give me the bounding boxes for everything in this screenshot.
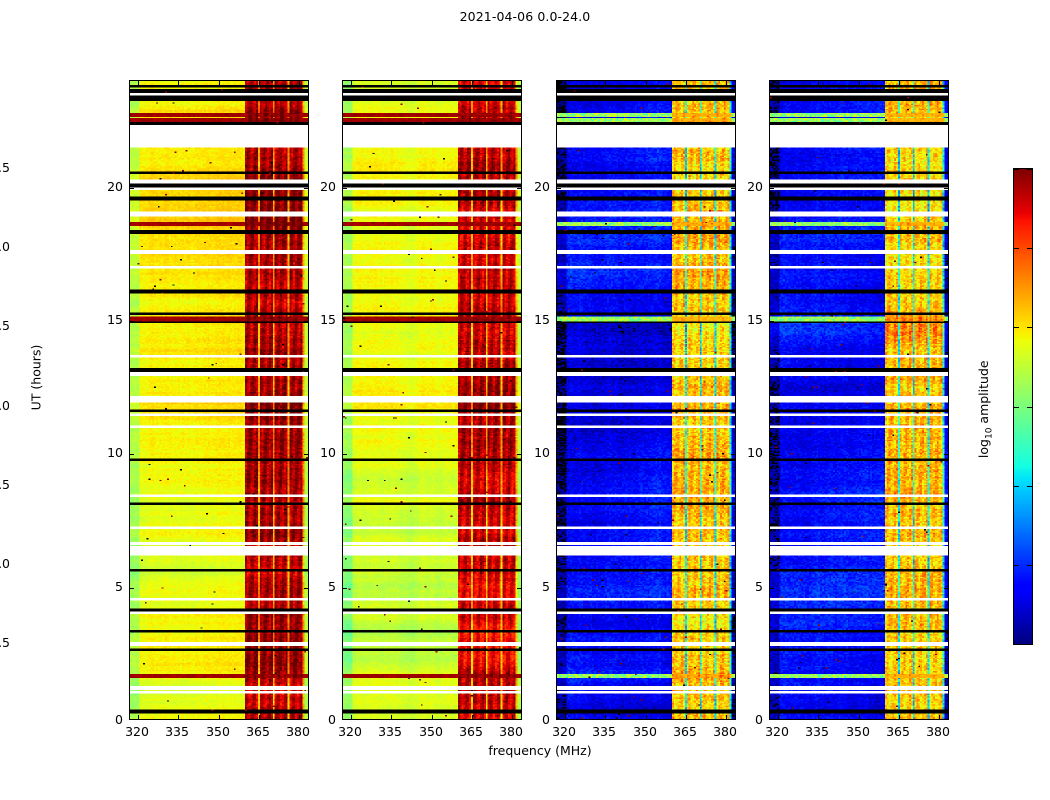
panel-xx-xtick-top-380	[299, 81, 300, 85]
panel-xx-yticklabel-0: 0	[89, 712, 123, 727]
panel-xy-ytick-15	[557, 321, 561, 322]
panel-xx-xtick-380	[299, 715, 300, 719]
panel-yx-yticklabel-20: 20	[729, 179, 763, 194]
panel-yx-ytick-20	[770, 188, 774, 189]
colorbar-tick--2.5	[1014, 644, 1019, 645]
colorbar-label-text: log	[976, 439, 991, 458]
panel-xx-xtick-350	[219, 715, 220, 719]
panel-xx-yticklabel-5: 5	[89, 579, 123, 594]
panel-xy-xtick-335	[605, 715, 606, 719]
panel-yy-xtick-365	[472, 715, 473, 719]
panel-yy-ytick-10	[343, 454, 347, 455]
colorbar-tick-0.5	[1014, 169, 1019, 170]
panel-xx-xtick-top-350	[219, 81, 220, 85]
panel-xx-xticklabel-350: 350	[196, 724, 240, 739]
panel-xx-ytick-15	[130, 321, 134, 322]
panel-xy-xtick-380	[726, 715, 727, 719]
panel-yy-xticklabel-335: 335	[368, 724, 412, 739]
colorbar-ticklabel--1.5: −1.5	[0, 477, 10, 492]
panel-yx[interactable]: YX, V13=EA15	[769, 80, 949, 720]
colorbar-tick--0.5	[1014, 327, 1019, 328]
panel-yx-yticklabel-10: 10	[729, 445, 763, 460]
panel-yy-xtick-380	[512, 715, 513, 719]
panel-yy-xtick-top-320	[351, 81, 352, 85]
panel-yx-ytick-right-10	[944, 454, 948, 455]
panel-xy[interactable]: XY, V13=EA15	[556, 80, 736, 720]
colorbar-tick--2.0	[1014, 565, 1019, 566]
panel-yx-xtick-top-320	[778, 81, 779, 85]
panel-xx-yticklabel-15: 15	[89, 312, 123, 327]
panel-yx-xtick-350	[859, 715, 860, 719]
panel-yx-yticklabel-0: 0	[729, 712, 763, 727]
colorbar-tick-right-0.0	[1027, 248, 1032, 249]
panel-xy-xticklabel-365: 365	[663, 724, 707, 739]
panel-xy-image	[557, 81, 735, 719]
panel-yx-xticklabel-380: 380	[916, 724, 960, 739]
panel-yy[interactable]: YY, V13=EA15	[342, 80, 522, 720]
colorbar-label: log10 amplitude	[976, 329, 995, 489]
panel-yx-xtick-top-380	[939, 81, 940, 85]
panel-yy-yticklabel-15: 15	[302, 312, 336, 327]
colorbar-tick-right--2.5	[1027, 644, 1032, 645]
colorbar-label-sub: 10	[984, 428, 994, 439]
panel-xy-ytick-5	[557, 588, 561, 589]
panel-xx-xtick-top-335	[178, 81, 179, 85]
panel-yx-ytick-10	[770, 454, 774, 455]
y-axis-label: UT (hours)	[29, 298, 44, 458]
panel-yx-yticklabel-5: 5	[729, 579, 763, 594]
colorbar-tick-0.0	[1014, 248, 1019, 249]
panel-xx-xtick-320	[138, 715, 139, 719]
panel-yx-xtick-320	[778, 715, 779, 719]
colorbar-ticklabel--2.5: −2.5	[0, 635, 10, 650]
panel-yx-xticklabel-350: 350	[836, 724, 880, 739]
panel-xx-ytick-20	[130, 188, 134, 189]
panel-xx-ytick-5	[130, 588, 134, 589]
panel-yy-xtick-top-335	[391, 81, 392, 85]
panel-yx-xtick-top-350	[859, 81, 860, 85]
colorbar-tick--1.5	[1014, 486, 1019, 487]
panel-xy-yticklabel-10: 10	[516, 445, 550, 460]
panel-yy-xticklabel-350: 350	[409, 724, 453, 739]
panel-xy-xtick-top-365	[686, 81, 687, 85]
colorbar-ticklabel-0.0: 0.0	[0, 239, 10, 254]
figure-title: 2021-04-06 0.0-24.0	[0, 9, 1050, 24]
panel-xx-xtick-365	[259, 715, 260, 719]
panel-yy-image	[343, 81, 521, 719]
panel-xx-xticklabel-335: 335	[155, 724, 199, 739]
panel-xy-xtick-top-380	[726, 81, 727, 85]
panel-xy-xticklabel-350: 350	[623, 724, 667, 739]
panel-yx-ytick-5	[770, 588, 774, 589]
colorbar-tick-right-0.5	[1027, 169, 1032, 170]
panel-yx-ytick-right-5	[944, 588, 948, 589]
panel-xy-xtick-top-335	[605, 81, 606, 85]
panel-xy-ytick-20	[557, 188, 561, 189]
panel-yx-xtick-380	[939, 715, 940, 719]
panel-xx-yticklabel-10: 10	[89, 445, 123, 460]
colorbar-ticklabel--0.5: −0.5	[0, 318, 10, 333]
colorbar	[1013, 168, 1033, 645]
panel-yx-ytick-15	[770, 321, 774, 322]
panel-yx-xtick-365	[899, 715, 900, 719]
colorbar-ticklabel--2.0: −2.0	[0, 556, 10, 571]
panel-yx-spectrogram[interactable]	[770, 81, 948, 719]
colorbar-ticklabel-0.5: 0.5	[0, 160, 10, 175]
colorbar-ticklabel--1.0: −1.0	[0, 398, 10, 413]
panel-xx-xtick-335	[178, 715, 179, 719]
panel-yx-xticklabel-365: 365	[876, 724, 920, 739]
panel-xx-xtick-top-365	[259, 81, 260, 85]
panel-xy-xtick-350	[646, 715, 647, 719]
panel-xx-ytick-10	[130, 454, 134, 455]
panel-xy-yticklabel-5: 5	[516, 579, 550, 594]
colorbar-tick-right--1.5	[1027, 486, 1032, 487]
panel-xx[interactable]: XX, V13=EA15	[129, 80, 309, 720]
panel-yx-xtick-335	[818, 715, 819, 719]
panel-xy-yticklabel-15: 15	[516, 312, 550, 327]
panel-yx-xticklabel-335: 335	[795, 724, 839, 739]
panel-xy-ytick-10	[557, 454, 561, 455]
colorbar-label-tail: amplitude	[976, 360, 991, 427]
panel-yy-xtick-350	[432, 715, 433, 719]
panel-yx-xtick-top-365	[899, 81, 900, 85]
panel-xx-xticklabel-365: 365	[236, 724, 280, 739]
x-axis-label: frequency (MHz)	[330, 743, 750, 758]
panel-xx-yticklabel-20: 20	[89, 179, 123, 194]
panel-yx-ytick-right-15	[944, 321, 948, 322]
colorbar-tick-right--0.5	[1027, 327, 1032, 328]
panel-xy-xtick-365	[686, 715, 687, 719]
panel-yy-yticklabel-5: 5	[302, 579, 336, 594]
panel-yy-xticklabel-365: 365	[449, 724, 493, 739]
panel-xy-yticklabel-20: 20	[516, 179, 550, 194]
panel-yx-yticklabel-15: 15	[729, 312, 763, 327]
panel-xx-xtick-top-320	[138, 81, 139, 85]
panel-yx-xtick-top-335	[818, 81, 819, 85]
panel-yx-ytick-right-20	[944, 188, 948, 189]
panel-xy-xticklabel-335: 335	[582, 724, 626, 739]
panel-xy-yticklabel-0: 0	[516, 712, 550, 727]
panel-xx-spectrogram[interactable]	[130, 81, 308, 719]
panel-yy-ytick-5	[343, 588, 347, 589]
panel-yy-ytick-15	[343, 321, 347, 322]
panel-xy-xtick-top-350	[646, 81, 647, 85]
panel-yy-ytick-20	[343, 188, 347, 189]
panel-yy-xtick-335	[391, 715, 392, 719]
panel-yy-xtick-320	[351, 715, 352, 719]
panel-xy-xtick-top-320	[565, 81, 566, 85]
panel-yy-yticklabel-20: 20	[302, 179, 336, 194]
colorbar-tick--1.0	[1014, 407, 1019, 408]
panel-xy-xtick-320	[565, 715, 566, 719]
panel-yy-yticklabel-0: 0	[302, 712, 336, 727]
panel-yy-xtick-top-350	[432, 81, 433, 85]
panel-yx-image	[770, 81, 948, 719]
panel-yy-xtick-top-380	[512, 81, 513, 85]
colorbar-tick-right--2.0	[1027, 565, 1032, 566]
panel-yy-yticklabel-10: 10	[302, 445, 336, 460]
colorbar-tick-right--1.0	[1027, 407, 1032, 408]
panel-xx-image	[130, 81, 308, 719]
panel-yy-xtick-top-365	[472, 81, 473, 85]
panel-yy-spectrogram[interactable]	[343, 81, 521, 719]
panel-xy-spectrogram[interactable]	[557, 81, 735, 719]
